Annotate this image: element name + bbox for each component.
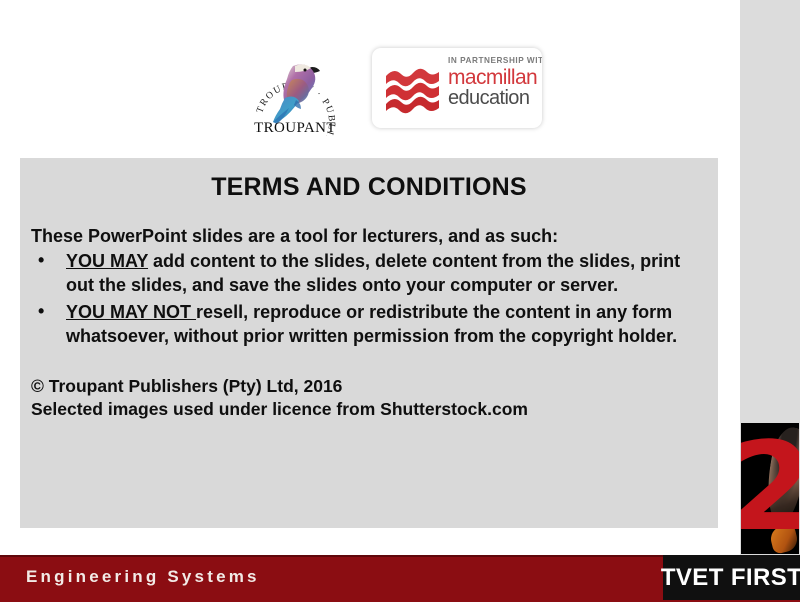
chapter-number: 2 (741, 423, 799, 554)
bullet-emphasis: YOU MAY (66, 251, 148, 271)
macmillan-partner-line: IN PARTNERSHIP WITH (448, 57, 540, 65)
copyright-line: © Troupant Publishers (Pty) Ltd, 2016 (31, 375, 718, 398)
chapter-number-tile: 2 (741, 423, 799, 554)
list-item: • YOU MAY NOT resell, reproduce or redis… (20, 301, 718, 349)
image-licence-line: Selected images used under licence from … (31, 398, 718, 421)
troupant-wordmark: TROUPANT (254, 120, 336, 136)
bullet-marker: • (38, 300, 44, 324)
macmillan-name: macmillan (448, 68, 540, 89)
logo-strip: TROUPANT · PUBLISHERS TROUPANT (0, 40, 740, 140)
macmillan-education-logo: IN PARTNERSHIP WITH macmillan education (372, 48, 542, 128)
troupant-publishers-logo: TROUPANT · PUBLISHERS TROUPANT (247, 44, 343, 136)
footer-bar: Engineering Systems TVET FIRST (0, 555, 800, 602)
tvet-first-label: TVET FIRST (661, 564, 800, 592)
macmillan-sub: education (448, 89, 540, 109)
terms-and-conditions-panel: TERMS AND CONDITIONS These PowerPoint sl… (20, 158, 718, 528)
terms-bullet-list: • YOU MAY add content to the slides, del… (20, 250, 718, 349)
intro-paragraph: These PowerPoint slides are a tool for l… (20, 226, 718, 247)
list-item: • YOU MAY add content to the slides, del… (20, 250, 718, 298)
copyright-block: © Troupant Publishers (Pty) Ltd, 2016 Se… (20, 375, 718, 422)
tvet-first-badge: TVET FIRST (663, 555, 800, 600)
macmillan-wave-icon (384, 64, 442, 114)
bullet-text: add content to the slides, delete conten… (66, 251, 680, 295)
subject-title: Engineering Systems (26, 567, 260, 587)
bullet-emphasis: YOU MAY NOT (66, 302, 196, 322)
bullet-marker: • (38, 249, 44, 273)
page-title: TERMS AND CONDITIONS (20, 173, 718, 202)
